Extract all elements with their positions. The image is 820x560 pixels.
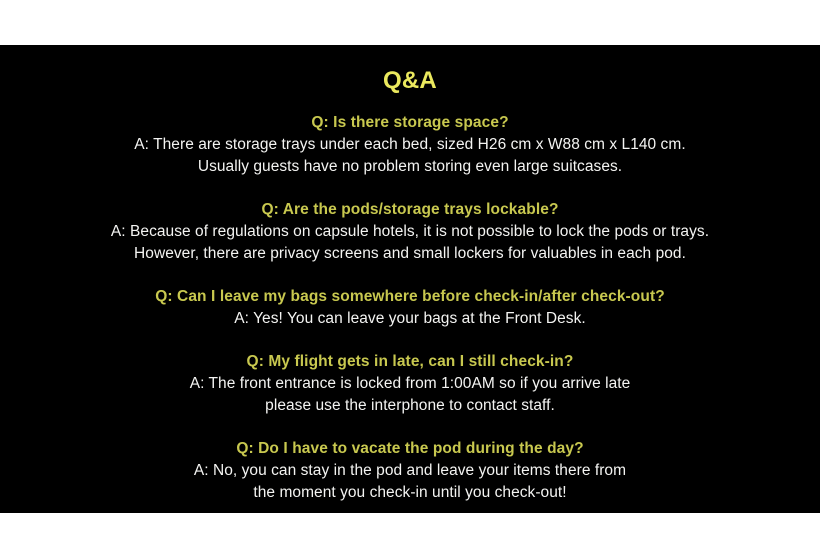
slide-frame: Q&A Q: Is there storage space? A: There … xyxy=(0,0,820,560)
qa-answer-line: A: The front entrance is locked from 1:0… xyxy=(0,373,820,395)
qa-question: Q: Can I leave my bags somewhere before … xyxy=(0,286,820,308)
qa-answer-line: However, there are privacy screens and s… xyxy=(0,243,820,265)
qa-answer-line: A: Because of regulations on capsule hot… xyxy=(0,221,820,243)
qa-block: Q: Is there storage space? A: There are … xyxy=(0,112,820,178)
slide-canvas: Q&A Q: Is there storage space? A: There … xyxy=(0,45,820,513)
qa-answer-line: A: Yes! You can leave your bags at the F… xyxy=(0,308,820,330)
qa-question: Q: Is there storage space? xyxy=(0,112,820,134)
letterbox-band-bottom xyxy=(0,513,820,560)
letterbox-band-top xyxy=(0,0,820,45)
qa-answer-line: A: There are storage trays under each be… xyxy=(0,134,820,156)
qa-block: Q: My flight gets in late, can I still c… xyxy=(0,351,820,417)
qa-answer-line: the moment you check-in until you check-… xyxy=(0,482,820,504)
page-title: Q&A xyxy=(0,45,820,94)
qa-answer-line: please use the interphone to contact sta… xyxy=(0,395,820,417)
qa-question: Q: Do I have to vacate the pod during th… xyxy=(0,438,820,460)
qa-answer-line: A: No, you can stay in the pod and leave… xyxy=(0,460,820,482)
qa-question: Q: Are the pods/storage trays lockable? xyxy=(0,199,820,221)
qa-answer-line: Usually guests have no problem storing e… xyxy=(0,156,820,178)
qa-block: Q: Are the pods/storage trays lockable? … xyxy=(0,199,820,265)
qa-block: Q: Do I have to vacate the pod during th… xyxy=(0,438,820,504)
qa-question: Q: My flight gets in late, can I still c… xyxy=(0,351,820,373)
qa-block: Q: Can I leave my bags somewhere before … xyxy=(0,286,820,330)
